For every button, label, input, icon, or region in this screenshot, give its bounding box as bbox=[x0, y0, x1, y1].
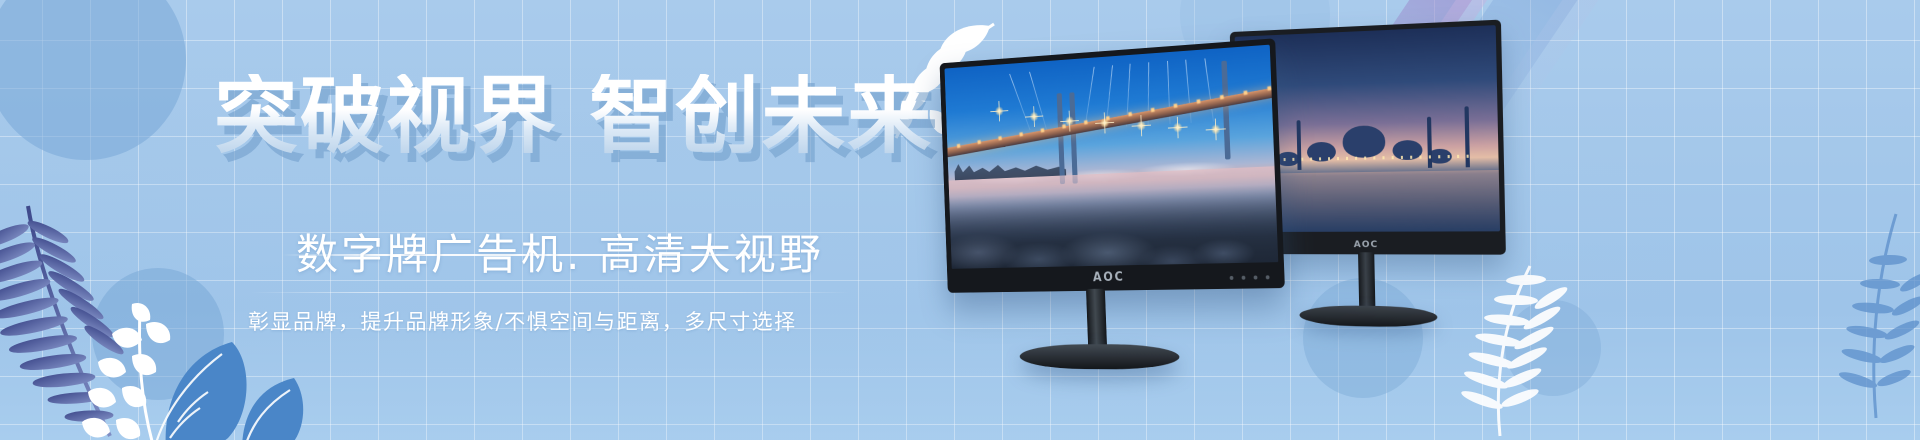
rocks-layer bbox=[945, 183, 1279, 269]
monitor-rear-stand-base bbox=[1299, 305, 1437, 328]
subtitle-divider bbox=[250, 292, 850, 293]
monitor-rear-stand-neck bbox=[1358, 252, 1375, 312]
subtitle: 数字牌广告机. 高清大视野 bbox=[296, 232, 824, 278]
monitor-front-stand-neck bbox=[1086, 289, 1107, 352]
monitor-front: AOC bbox=[940, 38, 1285, 293]
promo-banner: 突破视界 智创未来 数字牌广告机. 高清大视野 彰显品牌，提升品牌形象/不惧空间… bbox=[0, 0, 1920, 440]
brand-logo-rear: AOC bbox=[1354, 240, 1379, 250]
monitor-front-screen bbox=[945, 45, 1279, 269]
monitor-osd-buttons[interactable] bbox=[1230, 275, 1270, 280]
page-title: 突破视界 智创未来 bbox=[214, 74, 933, 158]
brand-logo-front: AOC bbox=[1093, 270, 1125, 285]
monitor-front-stand-base bbox=[1020, 344, 1181, 369]
product-showcase: AOC bbox=[880, 0, 1920, 440]
monitor-front-bezel: AOC bbox=[940, 38, 1285, 293]
copy-block: 突破视界 智创未来 数字牌广告机. 高清大视野 彰显品牌，提升品牌形象/不惧空间… bbox=[0, 0, 920, 440]
tagline: 彰显品牌，提升品牌形象/不惧空间与距离，多尺寸选择 bbox=[248, 306, 797, 336]
